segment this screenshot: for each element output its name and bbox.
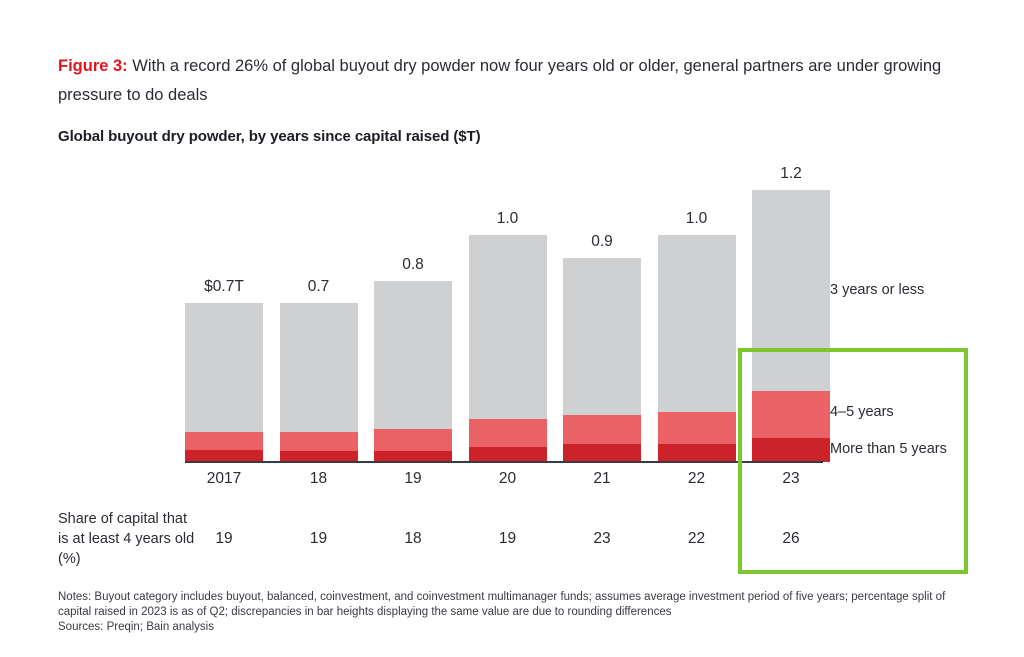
- bar-2017[interactable]: $0.7T: [185, 303, 263, 462]
- bar-value-label: 0.7: [280, 278, 358, 296]
- segment-more-than-5-years: [658, 444, 736, 462]
- share-value-2017: 19: [185, 530, 263, 548]
- segment-4-5-years: [658, 412, 736, 444]
- share-of-capital-label: Share of capital that is at least 4 year…: [58, 509, 198, 569]
- segment-3-years-or-less: [563, 258, 641, 415]
- share-value-23: 26: [752, 530, 830, 548]
- segment-3-years-or-less: [469, 235, 547, 419]
- x-axis-baseline: [185, 461, 823, 463]
- bar-value-label: $0.7T: [185, 278, 263, 296]
- x-tick-2017: 2017: [185, 470, 263, 488]
- x-tick-18: 18: [280, 470, 358, 488]
- segment-more-than-5-years: [563, 444, 641, 462]
- legend-3-years-or-less: 3 years or less: [830, 282, 924, 298]
- bar-21[interactable]: 0.9: [563, 258, 641, 462]
- share-value-18: 19: [280, 530, 358, 548]
- segment-4-5-years: [374, 429, 452, 451]
- segment-4-5-years: [563, 415, 641, 444]
- bar-20[interactable]: 1.0: [469, 235, 547, 462]
- bar-value-label: 1.2: [752, 165, 830, 183]
- bar-19[interactable]: 0.8: [374, 281, 452, 462]
- bar-18[interactable]: 0.7: [280, 303, 358, 462]
- segment-3-years-or-less: [658, 235, 736, 412]
- segment-3-years-or-less: [374, 281, 452, 430]
- bar-value-label: 0.8: [374, 256, 452, 274]
- sources-line: Sources: Preqin; Bain analysis: [58, 620, 958, 635]
- share-value-21: 23: [563, 530, 641, 548]
- segment-4-5-years: [469, 419, 547, 447]
- segment-3-years-or-less: [280, 303, 358, 432]
- x-tick-19: 19: [374, 470, 452, 488]
- segment-3-years-or-less: [185, 303, 263, 432]
- bar-value-label: 0.9: [563, 233, 641, 251]
- segment-4-5-years: [280, 432, 358, 451]
- x-tick-20: 20: [469, 470, 547, 488]
- notes-line: Notes: Buyout category includes buyout, …: [58, 590, 958, 620]
- x-tick-21: 21: [563, 470, 641, 488]
- share-value-20: 19: [469, 530, 547, 548]
- bar-value-label: 1.0: [469, 210, 547, 228]
- segment-4-5-years: [185, 432, 263, 450]
- bar-value-label: 1.0: [658, 210, 736, 228]
- chart-notes: Notes: Buyout category includes buyout, …: [58, 590, 958, 635]
- segment-more-than-5-years: [469, 447, 547, 462]
- x-tick-22: 22: [658, 470, 736, 488]
- bar-22[interactable]: 1.0: [658, 235, 736, 462]
- share-value-22: 22: [658, 530, 736, 548]
- share-value-19: 18: [374, 530, 452, 548]
